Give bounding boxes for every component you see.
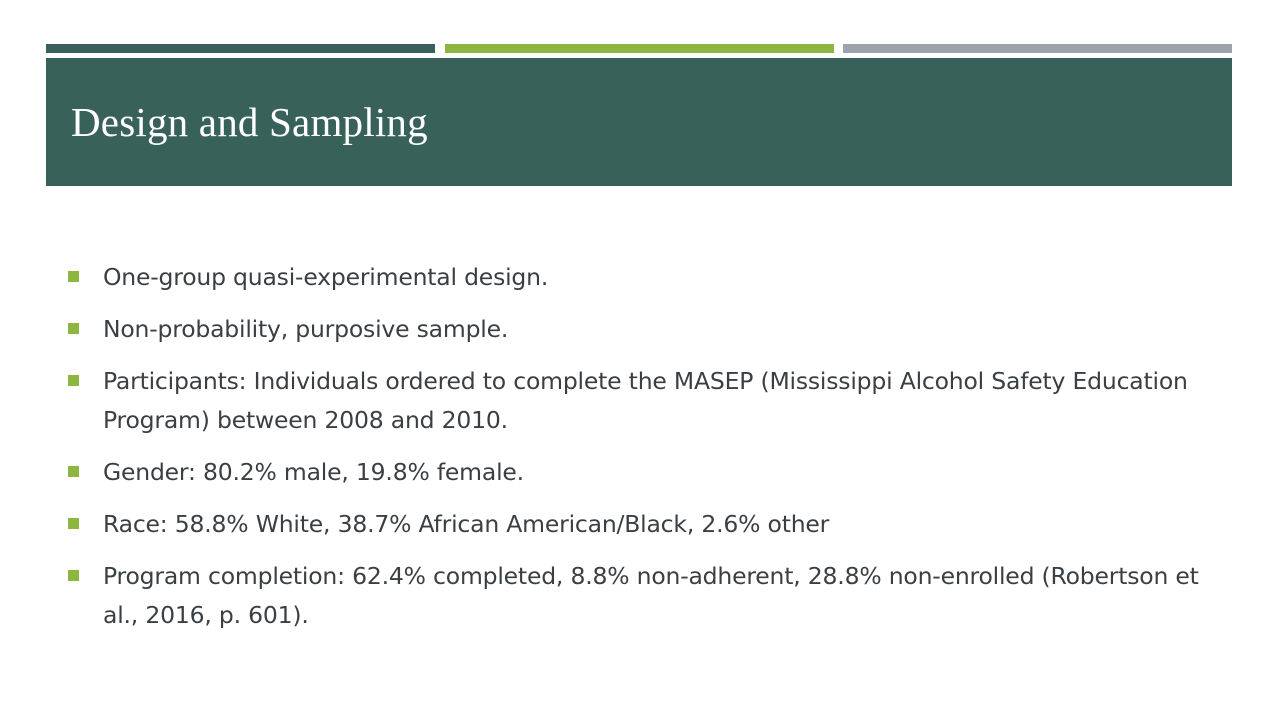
list-item-label: Gender: 80.2% male, 19.8% female. <box>103 453 1208 492</box>
square-bullet-icon <box>68 570 79 581</box>
list-item: Gender: 80.2% male, 19.8% female. <box>68 453 1208 492</box>
bullet-list: One-group quasi-experimental design. Non… <box>68 258 1208 648</box>
title-banner: Design and Sampling <box>46 58 1232 186</box>
list-item-label: Non-probability, purposive sample. <box>103 310 1208 349</box>
list-item-label: Participants: Individuals ordered to com… <box>103 362 1208 440</box>
slide-title: Design and Sampling <box>71 98 428 146</box>
list-item: Participants: Individuals ordered to com… <box>68 362 1208 440</box>
dark-green-bar <box>46 44 435 53</box>
square-bullet-icon <box>68 518 79 529</box>
gray-bar <box>843 44 1232 53</box>
list-item: Non-probability, purposive sample. <box>68 310 1208 349</box>
slide-canvas: { "slide": { "title": "Design and Sampli… <box>0 0 1280 720</box>
square-bullet-icon <box>68 375 79 386</box>
list-item-label: Program completion: 62.4% completed, 8.8… <box>103 557 1208 635</box>
list-item-label: Race: 58.8% White, 38.7% African America… <box>103 505 1208 544</box>
list-item: Program completion: 62.4% completed, 8.8… <box>68 557 1208 635</box>
square-bullet-icon <box>68 466 79 477</box>
top-accent-bar-strip <box>46 44 1232 53</box>
list-item-label: One-group quasi-experimental design. <box>103 258 1208 297</box>
list-item: Race: 58.8% White, 38.7% African America… <box>68 505 1208 544</box>
accent-bar-gap-1 <box>435 44 445 53</box>
square-bullet-icon <box>68 271 79 282</box>
list-item: One-group quasi-experimental design. <box>68 258 1208 297</box>
square-bullet-icon <box>68 323 79 334</box>
light-green-bar <box>445 44 834 53</box>
accent-bar-gap-2 <box>834 44 843 53</box>
